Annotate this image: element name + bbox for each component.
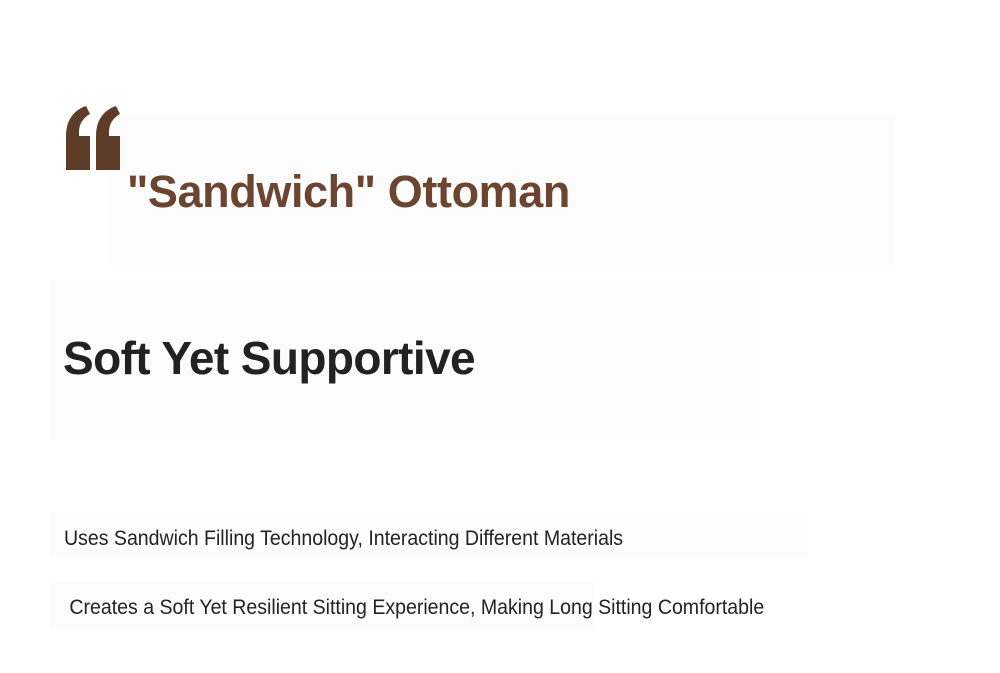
double-quote-icon xyxy=(62,106,124,170)
product-title: "Sandwich" Ottoman xyxy=(127,166,570,218)
body-line-1: Uses Sandwich Filling Technology, Intera… xyxy=(64,525,623,552)
product-feature-slide: "Sandwich" Ottoman Soft Yet Supportive U… xyxy=(0,0,1000,673)
body-line-2: Creates a Soft Yet Resilient Sitting Exp… xyxy=(64,594,764,621)
headline: Soft Yet Supportive xyxy=(63,331,475,385)
